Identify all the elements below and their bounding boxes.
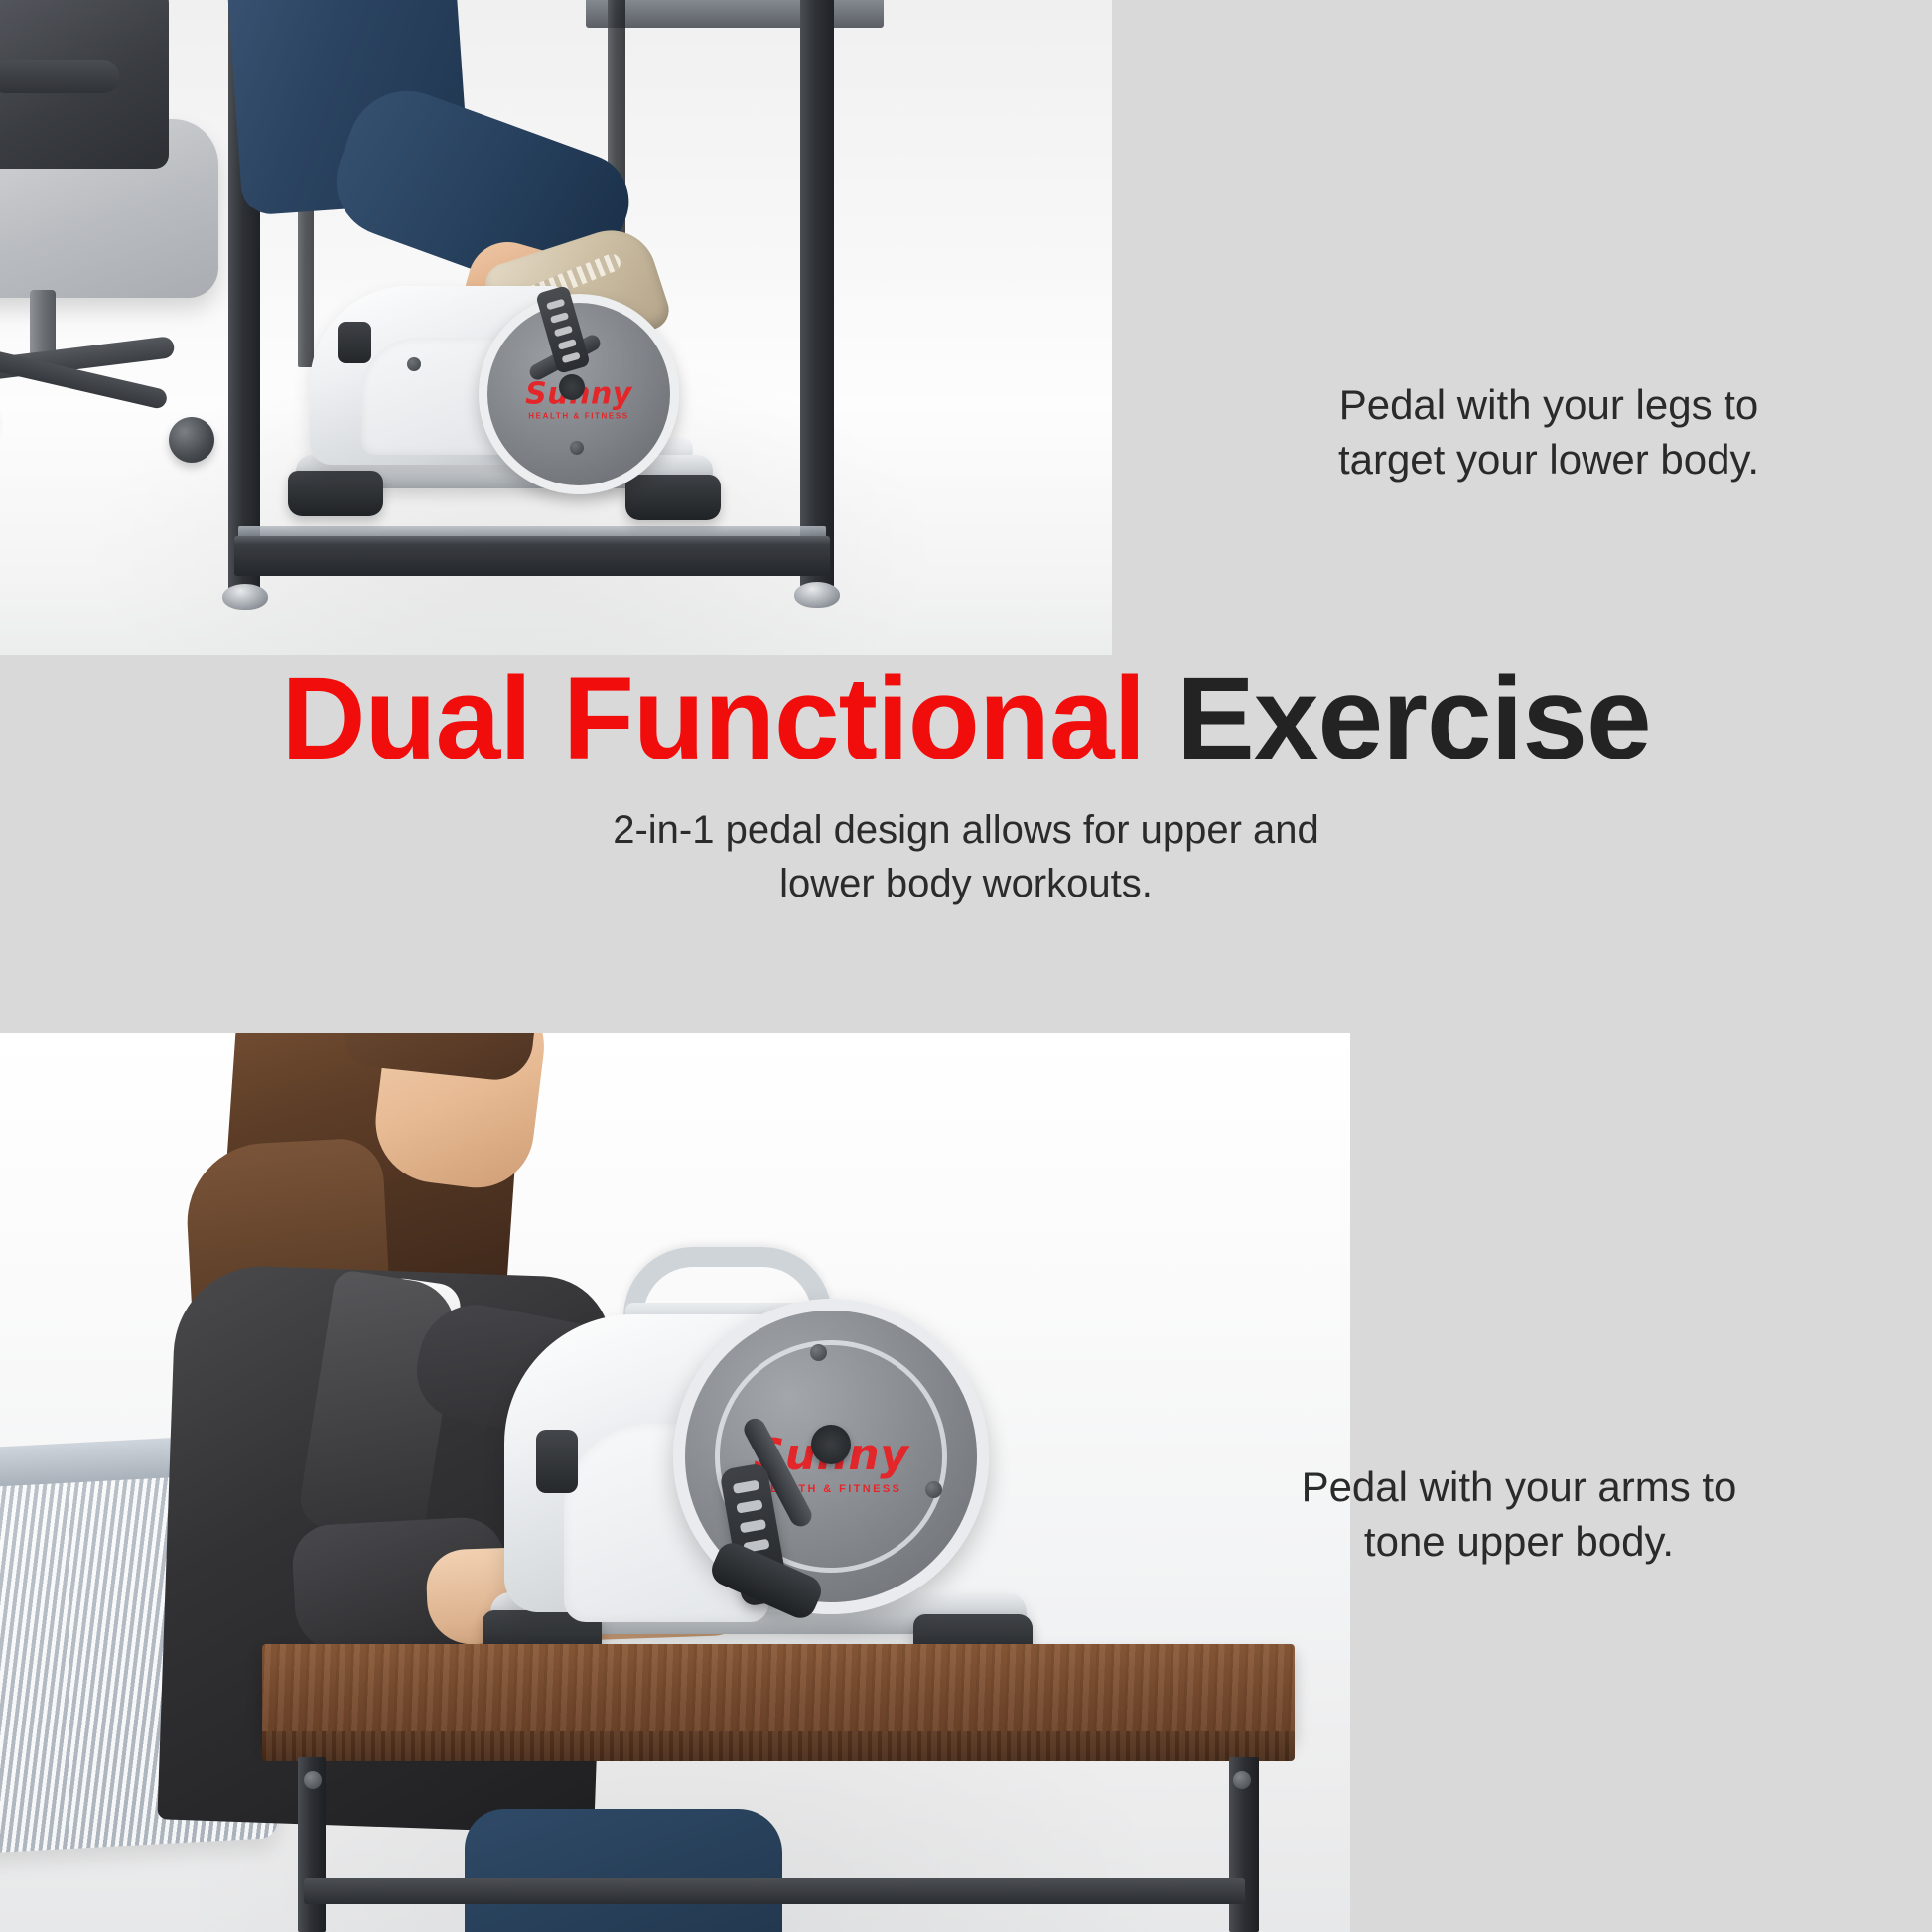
caption-bottom: Pedal with your arms to tone upper body.: [1181, 1459, 1857, 1570]
tension-knob: [338, 322, 371, 363]
subtitle-line-2: lower body workouts.: [0, 857, 1932, 910]
desk-surface-edge: [262, 1731, 1295, 1761]
elliptical-machine-bottom: Sunny HEALTH & FITNESS: [477, 1261, 1112, 1678]
pedal-slot: [736, 1499, 762, 1513]
desk-bolt: [1233, 1771, 1251, 1789]
bottom-product-photo: Sunny HEALTH & FITNESS: [0, 1033, 1350, 1932]
caption-top-line-1: Pedal with your legs to: [1221, 377, 1876, 432]
pedal-slot: [740, 1519, 766, 1533]
desk-bolt: [304, 1771, 322, 1789]
flywheel-hub: [811, 1425, 851, 1464]
caption-bottom-line-2: tone upper body.: [1181, 1514, 1857, 1569]
chair-armrest: [0, 60, 119, 93]
pedal-slot: [554, 326, 573, 338]
desk-leg: [800, 0, 834, 604]
desk-surface: [262, 1644, 1295, 1739]
bottom-panel: Sunny HEALTH & FITNESS: [0, 1033, 1932, 1932]
pedal-slot: [546, 299, 565, 311]
housing-screw: [407, 357, 421, 371]
elliptical-machine-top: Sunny HEALTH & FITNESS: [280, 266, 737, 534]
headline-block: Dual Functional Exercise 2-in-1 pedal de…: [0, 616, 1932, 1092]
brand-tagline-text: HEALTH & FITNESS: [525, 412, 632, 420]
desk-surface-edge: [586, 0, 884, 28]
caption-top: Pedal with your legs to target your lowe…: [1221, 377, 1876, 487]
pedal-slot: [562, 352, 581, 364]
subtitle-line-1: 2-in-1 pedal design allows for upper and: [0, 803, 1932, 857]
page-subtitle: 2-in-1 pedal design allows for upper and…: [0, 803, 1932, 911]
desk-foot: [222, 584, 268, 610]
headline-rest: Exercise: [1145, 653, 1650, 784]
jeans-lower: [465, 1809, 782, 1932]
headline-highlight: Dual Functional: [281, 653, 1145, 784]
caption-bottom-line-1: Pedal with your arms to: [1181, 1459, 1857, 1514]
page-title: Dual Functional Exercise: [0, 657, 1932, 781]
top-product-photo: Sunny HEALTH & FITNESS: [0, 0, 1112, 655]
housing-screw: [925, 1481, 942, 1498]
flywheel-hub: [559, 374, 585, 400]
housing-screw: [810, 1344, 827, 1361]
pedal-slot: [558, 339, 577, 350]
housing-screw: [570, 441, 584, 455]
pedal-slot: [550, 312, 569, 324]
machine-stabilizer-foot: [625, 475, 721, 520]
pedal-slot: [733, 1480, 759, 1494]
tension-knob: [536, 1430, 578, 1493]
desk-crossbar: [304, 1878, 1245, 1904]
product-marketing-image: Sunny HEALTH & FITNESS Pedal: [0, 0, 1932, 1932]
desk-crossbar: [234, 536, 830, 576]
top-panel: Sunny HEALTH & FITNESS Pedal: [0, 0, 1932, 655]
desk-foot: [794, 582, 840, 608]
machine-stabilizer-foot: [288, 471, 383, 516]
caption-top-line-2: target your lower body.: [1221, 432, 1876, 486]
chair-caster: [169, 417, 214, 463]
